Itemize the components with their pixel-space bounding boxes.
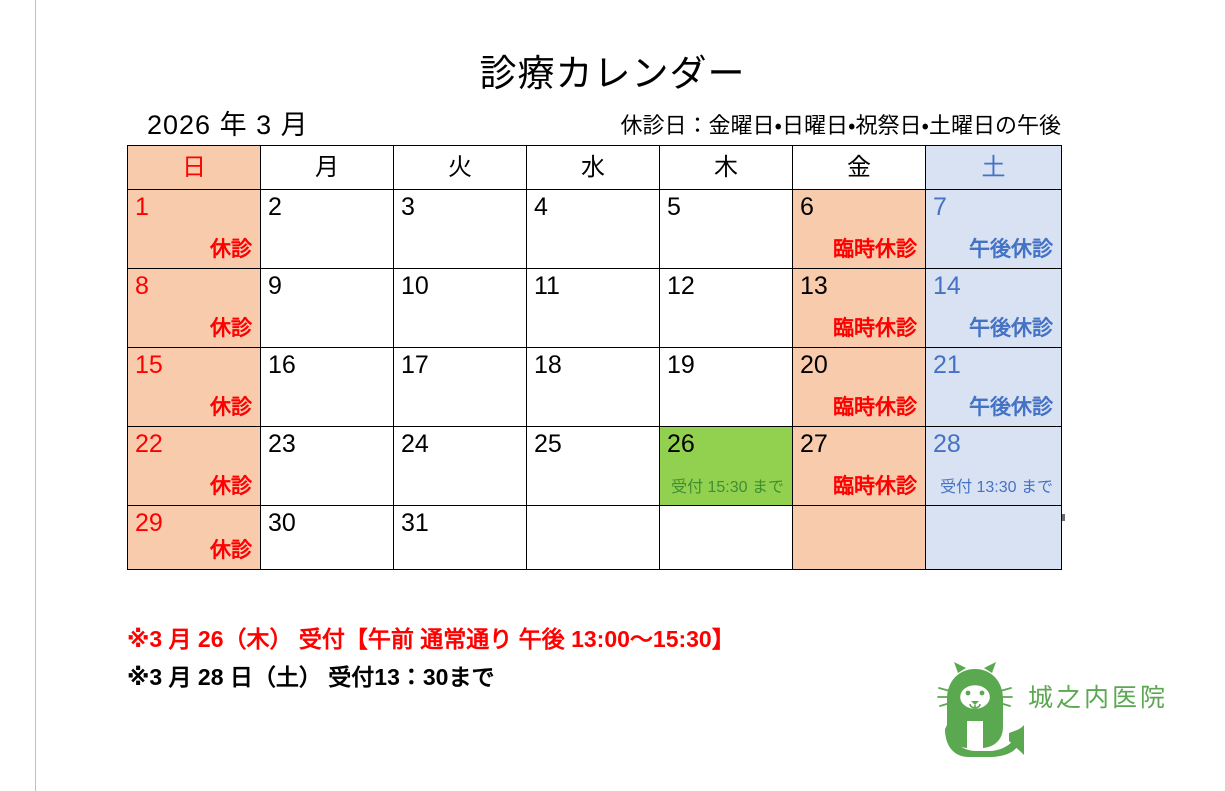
calendar-day-cell: 17 <box>394 348 527 427</box>
day-number: 22 <box>135 429 163 459</box>
calendar-week-row: 15休診1617181920臨時休診21午後休診 <box>128 348 1062 427</box>
weekday-header-5: 金 <box>793 146 926 190</box>
calendar-day-cell: 2 <box>261 190 394 269</box>
calendar-day-cell: 22休診 <box>128 427 261 506</box>
day-number: 19 <box>667 350 695 380</box>
day-number: 12 <box>667 271 695 301</box>
day-status-note: 休診 <box>210 538 252 563</box>
day-number: 7 <box>933 192 947 222</box>
day-number: 15 <box>135 350 163 380</box>
calendar-day-cell: 5 <box>660 190 793 269</box>
day-number: 31 <box>401 508 429 538</box>
day-number: 30 <box>268 508 296 538</box>
calendar-day-cell: 28受付 13:30 まで <box>926 427 1062 506</box>
day-number: 18 <box>534 350 562 380</box>
calendar-week-row: 1休診23456臨時休診7午後休診 <box>128 190 1062 269</box>
day-status-note: 休診 <box>210 395 252 420</box>
weekday-header-0: 日 <box>128 146 261 190</box>
day-number: 11 <box>534 271 560 301</box>
day-number: 21 <box>933 350 961 380</box>
day-status-note: 臨時休診 <box>833 316 917 341</box>
weekday-header-6: 土 <box>926 146 1062 190</box>
calendar-day-cell: 14午後休診 <box>926 269 1062 348</box>
calendar-day-cell: 1休診 <box>128 190 261 269</box>
calendar-day-cell: 20臨時休診 <box>793 348 926 427</box>
clinic-name: 城之内医院 <box>1028 683 1168 713</box>
day-number: 13 <box>800 271 828 301</box>
calendar-day-cell: 21午後休診 <box>926 348 1062 427</box>
day-number: 24 <box>401 429 429 459</box>
day-number: 29 <box>135 508 163 538</box>
calendar-week-row: 8休診910111213臨時休診14午後休診 <box>128 269 1062 348</box>
weekday-header-3: 水 <box>527 146 660 190</box>
calendar-day-cell: 7午後休診 <box>926 190 1062 269</box>
month-label: 2026 年 3 月 <box>147 108 309 142</box>
day-status-note: 受付 15:30 まで <box>671 478 784 498</box>
day-number: 28 <box>933 429 961 459</box>
day-number: 26 <box>667 429 695 459</box>
day-status-note: 受付 13:30 まで <box>940 478 1053 498</box>
calendar-day-cell: 10 <box>394 269 527 348</box>
footer-note-2: ※3 月 28 日（土） 受付13：30まで <box>127 658 927 696</box>
calendar-day-cell: 23 <box>261 427 394 506</box>
day-status-note: 午後休診 <box>969 316 1053 341</box>
calendar-day-cell: 26受付 15:30 まで <box>660 427 793 506</box>
day-number: 9 <box>268 271 282 301</box>
day-status-note: 午後休診 <box>969 237 1053 262</box>
calendar-header-row: 2026 年 3 月 休診日：金曜日・日曜日・祝祭日・土曜日の午後 <box>127 108 1061 142</box>
day-status-note: 午後休診 <box>969 395 1053 420</box>
day-number: 5 <box>667 192 681 222</box>
day-number: 8 <box>135 271 149 301</box>
page-title: 診療カレンダー <box>0 52 1225 96</box>
day-number: 14 <box>933 271 961 301</box>
calendar-day-cell: 8休診 <box>128 269 261 348</box>
calendar-day-cell: 30 <box>261 506 394 570</box>
calendar-empty-cell <box>793 506 926 570</box>
day-number: 20 <box>800 350 828 380</box>
day-number: 4 <box>534 192 548 222</box>
calendar-day-cell: 9 <box>261 269 394 348</box>
calendar-day-cell: 12 <box>660 269 793 348</box>
day-number: 27 <box>800 429 828 459</box>
weekday-header-1: 月 <box>261 146 394 190</box>
clinic-logo: 城之内医院 <box>925 655 1120 763</box>
day-number: 2 <box>268 192 282 222</box>
footer-note-1: ※3 月 26（木） 受付【午前 通常通り 午後 13:00〜15:30】 <box>127 620 927 658</box>
day-number: 23 <box>268 429 296 459</box>
calendar-day-cell: 29休診 <box>128 506 261 570</box>
day-number: 6 <box>800 192 814 222</box>
calendar-day-cell: 15休診 <box>128 348 261 427</box>
footer-notes: ※3 月 26（木） 受付【午前 通常通り 午後 13:00〜15:30】※3 … <box>127 620 927 696</box>
day-number: 3 <box>401 192 415 222</box>
closed-days-note: 休診日：金曜日・日曜日・祝祭日・土曜日の午後 <box>621 111 1061 141</box>
weekday-header-2: 火 <box>394 146 527 190</box>
calendar-day-cell: 19 <box>660 348 793 427</box>
calendar-day-cell: 24 <box>394 427 527 506</box>
calendar-page: 診療カレンダー 2026 年 3 月 休診日：金曜日・日曜日・祝祭日・土曜日の午… <box>0 0 1225 791</box>
day-status-note: 臨時休診 <box>833 237 917 262</box>
calendar-day-cell: 4 <box>527 190 660 269</box>
day-number: 1 <box>135 192 149 222</box>
calendar-day-cell: 25 <box>527 427 660 506</box>
day-status-note: 休診 <box>210 316 252 341</box>
scan-artifact <box>1062 514 1065 521</box>
calendar-body: 1休診23456臨時休診7午後休診8休診910111213臨時休診14午後休診1… <box>128 190 1062 570</box>
calendar-day-cell: 13臨時休診 <box>793 269 926 348</box>
day-number: 17 <box>401 350 429 380</box>
calendar-day-cell: 3 <box>394 190 527 269</box>
day-status-note: 休診 <box>210 474 252 499</box>
day-number: 16 <box>268 350 296 380</box>
day-status-note: 臨時休診 <box>833 395 917 420</box>
calendar-day-cell: 27臨時休診 <box>793 427 926 506</box>
calendar-empty-cell <box>660 506 793 570</box>
day-number: 10 <box>401 271 429 301</box>
calendar-day-cell: 6臨時休診 <box>793 190 926 269</box>
seal-mascot-icon <box>925 655 1025 763</box>
calendar-day-cell: 18 <box>527 348 660 427</box>
weekday-header-4: 木 <box>660 146 793 190</box>
calendar-day-cell: 31 <box>394 506 527 570</box>
day-number: 25 <box>534 429 562 459</box>
calendar-day-cell: 16 <box>261 348 394 427</box>
day-status-note: 休診 <box>210 237 252 262</box>
calendar-week-row: 29休診3031 <box>128 506 1062 570</box>
weekday-header-row: 日月火水木金土 <box>128 146 1062 190</box>
calendar-empty-cell <box>926 506 1062 570</box>
calendar-day-cell: 11 <box>527 269 660 348</box>
calendar-week-row: 22休診23242526受付 15:30 まで27臨時休診28受付 13:30 … <box>128 427 1062 506</box>
day-status-note: 臨時休診 <box>833 474 917 499</box>
clinic-calendar-table: 日月火水木金土 1休診23456臨時休診7午後休診8休診910111213臨時休… <box>127 145 1062 570</box>
calendar-empty-cell <box>527 506 660 570</box>
